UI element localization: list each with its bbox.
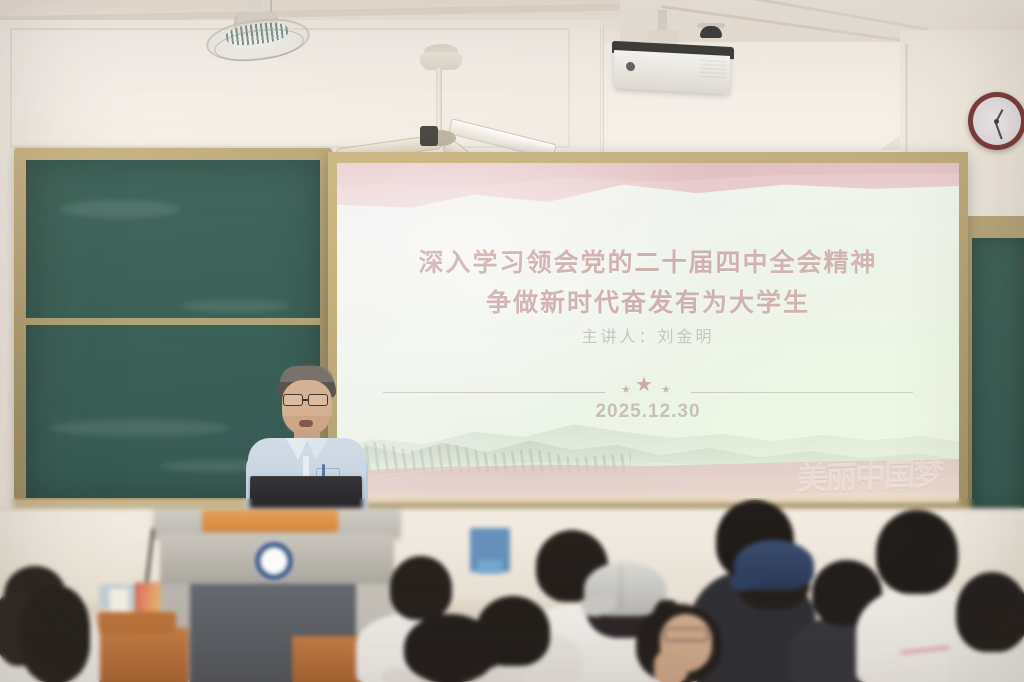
student-head xyxy=(390,556,452,620)
slide-title: 深入学习领会党的二十届四中全会精神 争做新时代奋发有为大学生 xyxy=(377,243,919,323)
chalk-smudge xyxy=(50,420,230,436)
slide-title-line-1: 深入学习领会党的二十届四中全会精神 xyxy=(418,249,877,277)
chair-back xyxy=(98,612,176,634)
divider-small-star-right: ★ xyxy=(661,384,671,396)
projector-lens xyxy=(626,62,635,71)
divider-line-right xyxy=(691,392,913,393)
divider-dot-left: · xyxy=(611,388,613,400)
wall-fan-icon xyxy=(196,0,316,66)
student-head xyxy=(876,510,958,594)
student-head xyxy=(404,614,496,682)
right-chalkboard xyxy=(972,238,1024,510)
power-outlet-icon xyxy=(109,588,129,614)
divider-small-star-left: ★ xyxy=(621,384,631,396)
security-camera-icon xyxy=(700,26,722,38)
university-crest-icon xyxy=(253,540,295,582)
projector-vent xyxy=(700,59,726,80)
cap-seam xyxy=(620,564,622,610)
fan-downrod xyxy=(436,68,442,132)
slide-divider: · ★ ★ ★ · xyxy=(383,386,913,398)
fan-cord xyxy=(270,0,272,12)
laptop-icon xyxy=(250,476,362,510)
wall-monitor-screen xyxy=(478,560,502,574)
glasses-icon xyxy=(664,628,708,641)
divider-big-star: ★ xyxy=(635,379,653,391)
wall-clock-icon xyxy=(968,92,1024,150)
chalk-smudge xyxy=(60,200,180,218)
divider-line-left xyxy=(383,392,605,393)
divider-dot-right: · xyxy=(675,388,677,400)
projection-screen: 深入学习领会党的二十届四中全会精神 争做新时代奋发有为大学生 主讲人：刘金明 ·… xyxy=(337,163,959,503)
classroom-lecture-photo: 深入学习领会党的二十届四中全会精神 争做新时代奋发有为大学生 主讲人：刘金明 ·… xyxy=(0,0,1024,682)
student-head xyxy=(956,572,1024,652)
fan-motor-housing xyxy=(420,126,438,146)
slide-speaker-label: 主讲人：刘金明 xyxy=(377,323,919,347)
presenter-mouth xyxy=(299,420,313,427)
slide-date: 2025.12.30 xyxy=(377,401,919,423)
slide-title-line-2: 争做新时代奋发有为大学生 xyxy=(377,283,919,323)
slide-bottom-strip xyxy=(337,493,959,503)
glasses-icon xyxy=(283,394,303,406)
chalkboard-divider xyxy=(26,318,320,325)
student-hand xyxy=(654,650,688,682)
podium-wood-trim xyxy=(202,510,338,532)
clock-center xyxy=(994,119,999,124)
glasses-icon xyxy=(308,394,328,406)
glasses-bridge xyxy=(303,399,308,401)
chalk-smudge xyxy=(180,300,290,312)
student-head xyxy=(20,586,90,682)
projector-pole xyxy=(658,10,667,32)
